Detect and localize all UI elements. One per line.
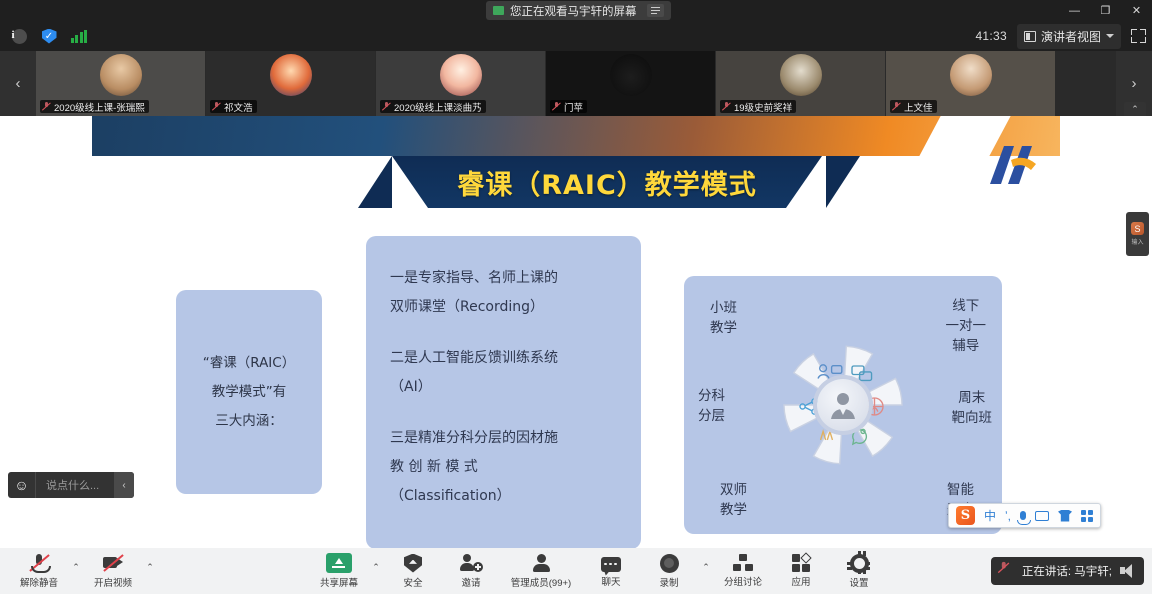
participant-name: 2020级线上课-张瑞熙: [54, 100, 145, 113]
slide-header-band: [92, 116, 1060, 156]
info-icon: i: [12, 29, 27, 44]
wheel-label-offline-tutoring: 线下 一对一 辅导: [946, 296, 987, 356]
wheel-diagram: [778, 340, 908, 470]
settings-label: 设置: [849, 575, 868, 589]
window-controls: — ❐ ✕: [1059, 0, 1152, 21]
avatar: [100, 54, 142, 96]
emoji-icon[interactable]: ☺: [8, 472, 36, 498]
avatar: [440, 54, 482, 96]
participant-nameplate: 上文佳: [890, 100, 937, 113]
share-screen-label: 共享屏幕: [320, 575, 358, 589]
invite-icon: [459, 553, 483, 573]
fullscreen-icon[interactable]: [1131, 29, 1146, 43]
skin-icon[interactable]: [1058, 510, 1072, 522]
avatar: [610, 54, 652, 96]
intro-line-3: 三大内涵：: [203, 407, 295, 436]
apps-button[interactable]: 应用: [772, 548, 830, 594]
wheel-label-0-line1: 小班: [710, 298, 737, 318]
wheel-label-5-line1: 分科: [698, 386, 725, 406]
voice-input-icon[interactable]: [1020, 511, 1026, 520]
apps-label: 应用: [791, 574, 810, 588]
wheel-label-3-line1: 智能: [947, 480, 974, 500]
toolbar-right-group: 41:33 演讲者视图: [975, 21, 1146, 51]
audio-video-controls: 解除静音 ⌃ 开启视频 ⌃: [10, 548, 158, 594]
minimize-button[interactable]: —: [1059, 0, 1090, 21]
participant-name: 上文佳: [904, 100, 933, 113]
mic-off-icon: [212, 102, 221, 111]
view-mode-button[interactable]: 演讲者视图: [1017, 24, 1121, 49]
record-label: 录制: [659, 575, 678, 589]
banner-wing-left: [358, 156, 392, 208]
participant-tile[interactable]: 2020级线上课淡曲艿: [376, 51, 545, 116]
chat-button[interactable]: 聊天: [582, 548, 640, 594]
quick-chat-bar[interactable]: ☺ 说点什么... ‹: [8, 472, 134, 498]
view-mode-label: 演讲者视图: [1041, 28, 1101, 45]
wheel-label-0-line2: 教学: [710, 318, 737, 338]
detail-point-3: 三是精准分科分层的因材施 教 创 新 模 式 （Classification）: [390, 424, 617, 511]
wheel-label-dual-teacher: 双师 教学: [720, 480, 747, 520]
sogou-logo-icon: S: [1131, 222, 1144, 235]
mic-off-icon: [998, 562, 1016, 580]
intro-box-text: “睿课（RAIC） 教学模式”有 三大内涵：: [203, 349, 295, 436]
record-button[interactable]: 录制: [640, 548, 698, 594]
main-controls: 共享屏幕 ⌃ 安全 邀请 管理成员(99+) 聊天 录制 ⌃ 分: [310, 548, 888, 594]
participant-tile[interactable]: 19级史前奖祥: [716, 51, 885, 116]
breakout-rooms-button[interactable]: 分组讨论: [714, 548, 772, 594]
participant-nameplate: 19级史前奖祥: [720, 100, 796, 113]
wheel-center: [817, 379, 869, 431]
chat-label: 聊天: [601, 574, 620, 588]
filmstrip-prev-button[interactable]: ‹: [0, 51, 36, 116]
participant-tiles: 2020级线上课-张瑞熙 祁文浩 2020级线上课淡曲艿 门苹: [36, 51, 1116, 116]
meeting-info-toolbar: i ✓ 41:33 演讲者视图: [0, 21, 1152, 51]
mic-off-icon: [722, 102, 731, 111]
participants-label: 管理成员(99+): [511, 575, 571, 589]
participant-tile[interactable]: 上文佳: [886, 51, 1055, 116]
detail-2-line-2: （AI）: [390, 373, 617, 402]
participant-name: 2020级线上课淡曲艿: [394, 100, 482, 113]
speaker-icon: [1120, 564, 1136, 578]
brand-logo-icon: [984, 140, 1042, 190]
slide-title: 睿课（RAIC）教学模式: [457, 163, 757, 202]
participant-nameplate: 2020级线上课-张瑞熙: [40, 100, 149, 113]
participant-nameplate: 祁文浩: [210, 100, 257, 113]
spacer: [390, 322, 617, 344]
wheel-label-1-line3: 辅导: [946, 336, 987, 356]
video-off-icon: [102, 553, 124, 573]
sogou-ime-toolbar[interactable]: S 中 ʼ,: [948, 503, 1101, 528]
share-screen-icon: [326, 553, 352, 573]
banner-wing-right: [826, 156, 860, 208]
settings-gear-icon: [850, 554, 869, 573]
invite-button[interactable]: 邀请: [442, 548, 500, 594]
signal-icon: [71, 30, 88, 43]
share-options-menu-icon[interactable]: [647, 4, 664, 17]
speaker-view-icon: [1024, 31, 1036, 42]
breakout-rooms-icon: [732, 554, 754, 572]
participants-button[interactable]: 管理成员(99+): [500, 548, 582, 594]
mic-off-icon: [42, 102, 51, 111]
shield-icon: ✓: [42, 29, 57, 44]
invite-label: 邀请: [461, 575, 480, 589]
chat-collapse-button[interactable]: ‹: [114, 472, 134, 498]
wheel-diagram-box: 小班 教学 线下 一对一 辅导 周末 靶向班 智能 题库 双师 教学 分科: [684, 276, 1002, 534]
wheel-label-weekend-class: 周末 靶向班: [952, 388, 993, 428]
screen-share-status-label: 您正在观看马宇轩的屏幕: [510, 3, 637, 19]
ime-side-tab-label: 输入: [1131, 237, 1143, 246]
wheel-label-stratified: 分科 分层: [698, 386, 725, 426]
details-box: 一是专家指导、名师上课的 双师课堂（Recording） 二是人工智能反馈训练系…: [366, 236, 641, 548]
security-label: 安全: [403, 575, 422, 589]
window-title-bar: 您正在观看马宇轩的屏幕 — ❐ ✕: [0, 0, 1152, 21]
encryption-button[interactable]: ✓: [38, 25, 60, 47]
start-video-label: 开启视频: [94, 575, 132, 589]
participant-name: 19级史前奖祥: [734, 100, 792, 113]
ime-side-tab[interactable]: S 输入: [1126, 212, 1149, 256]
intro-line-2: 教学模式”有: [203, 378, 295, 407]
mic-off-icon: [892, 102, 901, 111]
participant-tile[interactable]: 2020级线上课-张瑞熙: [36, 51, 205, 116]
wheel-label-1-line1: 线下: [946, 296, 987, 316]
avatar: [270, 54, 312, 96]
participants-icon: [530, 553, 552, 573]
stage-right-margin: [1060, 116, 1152, 548]
audio-options-chevron-icon[interactable]: ⌃: [68, 548, 84, 594]
active-speaker-indicator: 正在讲话: 马宇轩;: [991, 557, 1144, 585]
punctuation-icon[interactable]: ʼ,: [1005, 509, 1011, 523]
participant-tile[interactable]: 祁文浩: [206, 51, 375, 116]
wheel-label-1-line2: 一对一: [946, 316, 987, 336]
network-quality-button[interactable]: [68, 25, 90, 47]
detail-3-line-3: （Classification）: [390, 482, 617, 511]
detail-point-2: 二是人工智能反馈训练系统 （AI）: [390, 344, 617, 402]
ime-apps-icon[interactable]: [1081, 510, 1093, 522]
participant-tile[interactable]: 门苹: [546, 51, 715, 116]
record-icon: [660, 554, 679, 573]
ime-mode-toggle[interactable]: 中: [984, 507, 996, 524]
maximize-button[interactable]: ❐: [1090, 0, 1121, 21]
mic-off-icon: [28, 553, 50, 573]
detail-point-1: 一是专家指导、名师上课的 双师课堂（Recording）: [390, 264, 617, 322]
screen-share-status-pill[interactable]: 您正在观看马宇轩的屏幕: [486, 1, 671, 20]
wheel-label-4-line2: 教学: [720, 500, 747, 520]
participant-name: 门苹: [564, 100, 583, 113]
intro-line-1: “睿课（RAIC）: [203, 349, 295, 378]
spacer: [390, 402, 617, 424]
meeting-timer: 41:33: [975, 29, 1007, 43]
intro-box: “睿课（RAIC） 教学模式”有 三大内涵：: [176, 290, 322, 494]
active-speaker-label: 正在讲话: 马宇轩;: [1022, 563, 1112, 579]
slide-title-banner: 睿课（RAIC）教学模式: [392, 156, 822, 208]
apps-icon: [790, 554, 812, 572]
chat-icon: [601, 557, 621, 572]
share-indicator-icon: [493, 6, 504, 15]
mic-off-icon: [382, 102, 391, 111]
meeting-info-button[interactable]: i: [8, 25, 30, 47]
chat-input[interactable]: 说点什么...: [36, 477, 114, 493]
shared-screen-stage: 睿课（RAIC）教学模式 “睿课（RAIC） 教学模式”有 三大内涵： 一是专家…: [0, 116, 1152, 548]
unmute-label: 解除静音: [20, 575, 58, 589]
sogou-logo-icon[interactable]: S: [956, 506, 975, 525]
participant-name: 祁文浩: [224, 100, 253, 113]
avatar: [780, 54, 822, 96]
video-options-chevron-icon[interactable]: ⌃: [142, 548, 158, 594]
wheel-label-2-line1: 周末: [952, 388, 993, 408]
unmute-button[interactable]: 解除静音: [10, 548, 68, 594]
security-shield-icon: [404, 554, 422, 573]
meeting-controls-bar: 解除静音 ⌃ 开启视频 ⌃ 共享屏幕 ⌃ 安全 邀请 管理成员: [0, 548, 1152, 594]
participant-filmstrip: ‹ › 2020级线上课-张瑞熙 祁文浩 2020级线上课淡曲艿: [0, 51, 1152, 116]
chevron-down-icon: [1106, 34, 1114, 38]
filmstrip-collapse-button[interactable]: ⌃: [1124, 102, 1146, 116]
wheel-label-small-class: 小班 教学: [710, 298, 737, 338]
presentation-slide: 睿课（RAIC）教学模式 “睿课（RAIC） 教学模式”有 三大内涵： 一是专家…: [92, 116, 1060, 548]
detail-1-line-2: 双师课堂（Recording）: [390, 293, 617, 322]
detail-1-line-1: 一是专家指导、名师上课的: [390, 264, 617, 293]
wheel-label-2-line2: 靶向班: [952, 408, 993, 428]
mic-off-icon: [552, 102, 561, 111]
detail-2-line-1: 二是人工智能反馈训练系统: [390, 344, 617, 373]
start-video-button[interactable]: 开启视频: [84, 548, 142, 594]
teacher-icon: [828, 391, 858, 419]
participant-nameplate: 门苹: [550, 100, 587, 113]
breakout-rooms-label: 分组讨论: [724, 574, 762, 588]
detail-3-line-1: 三是精准分科分层的因材施: [390, 424, 617, 453]
record-options-chevron-icon[interactable]: ⌃: [698, 548, 714, 594]
wheel-label-5-line2: 分层: [698, 406, 725, 426]
soft-keyboard-icon[interactable]: [1035, 511, 1049, 521]
participant-nameplate: 2020级线上课淡曲艿: [380, 100, 486, 113]
share-options-chevron-icon[interactable]: ⌃: [368, 548, 384, 594]
settings-button[interactable]: 设置: [830, 548, 888, 594]
wheel-label-4-line1: 双师: [720, 480, 747, 500]
avatar: [950, 54, 992, 96]
share-screen-button[interactable]: 共享屏幕: [310, 548, 368, 594]
detail-3-line-2: 教 创 新 模 式: [390, 453, 617, 482]
security-button[interactable]: 安全: [384, 548, 442, 594]
close-button[interactable]: ✕: [1121, 0, 1152, 21]
